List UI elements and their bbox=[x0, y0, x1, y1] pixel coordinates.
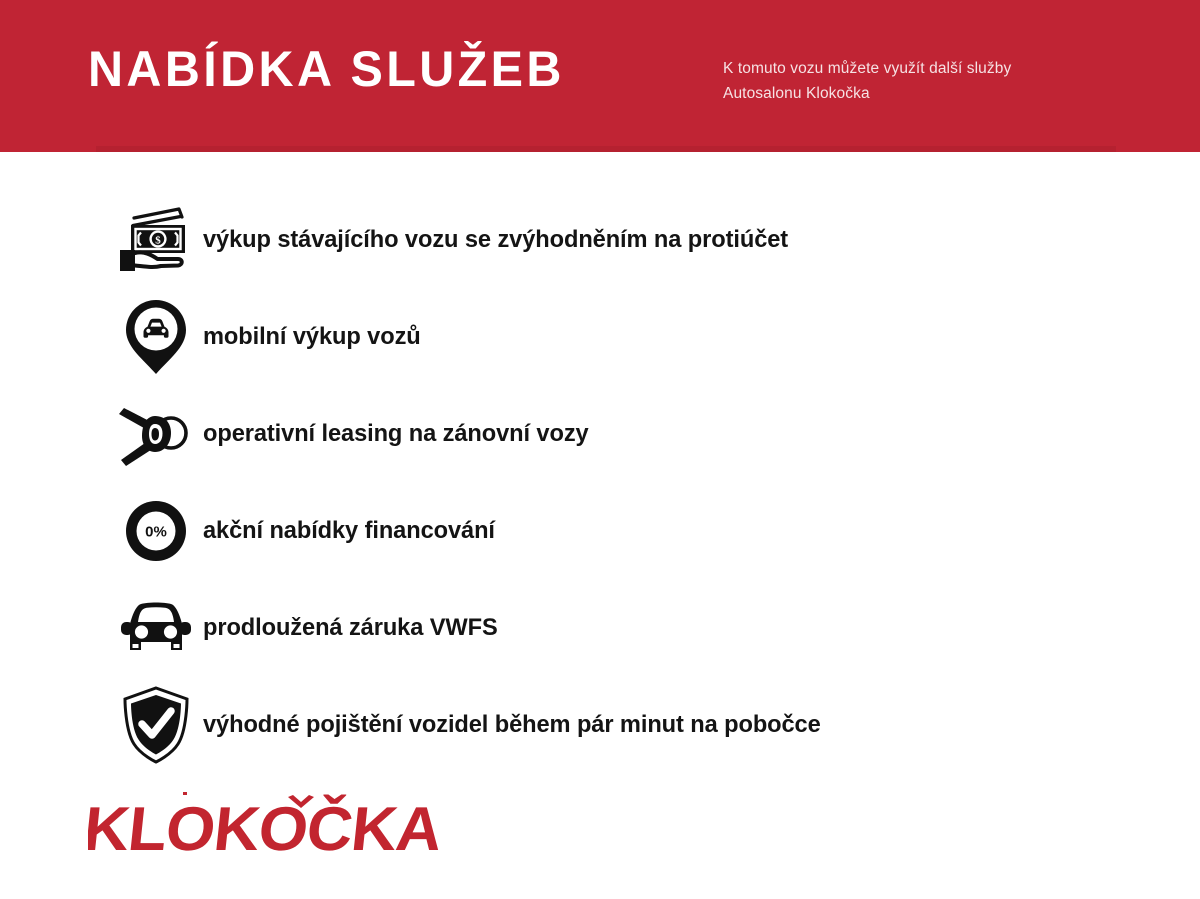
map-pin-car-icon bbox=[108, 289, 204, 385]
zero-percent-label: 0% bbox=[145, 524, 167, 541]
header-subtitle-line-2: Autosalonu Klokočka bbox=[723, 81, 1123, 106]
service-label: operativní leasing na zánovní vozy bbox=[203, 420, 589, 448]
logo-wordmark: KLOKOČKA bbox=[88, 794, 445, 860]
service-label: výkup stávajícího vozu se zvýhodněním na… bbox=[203, 226, 788, 254]
zero-percent-circle-icon: 0% bbox=[108, 483, 204, 579]
page-title: NABÍDKA SLUŽEB bbox=[88, 44, 565, 94]
hand-money-icon: $ bbox=[108, 192, 204, 288]
shield-check-icon bbox=[108, 677, 204, 773]
klokocka-logo: KLOKOČKA bbox=[88, 790, 488, 860]
service-item-mobile-buyback: mobilní výkup vozů bbox=[0, 289, 1200, 385]
service-label: výhodné pojištění vozidel během pár minu… bbox=[203, 711, 821, 739]
header-subtitle-line-1: K tomuto vozu můžete využít další služby bbox=[723, 56, 1123, 81]
service-item-buyback: $ výkup stávajícího vozu se zvýhodněním … bbox=[0, 192, 1200, 288]
car-front-icon bbox=[108, 580, 204, 676]
service-label: mobilní výkup vozů bbox=[203, 323, 421, 351]
service-item-extended-warranty: prodloužená záruka VWFS bbox=[0, 580, 1200, 676]
banknote-dollar-symbol: $ bbox=[155, 234, 161, 246]
service-item-financing: 0% akční nabídky financování bbox=[0, 483, 1200, 579]
service-item-insurance: výhodné pojištění vozidel během pár minu… bbox=[0, 677, 1200, 773]
header-subtitle: K tomuto vozu můžete využít další služby… bbox=[723, 56, 1123, 106]
service-label: akční nabídky financování bbox=[203, 517, 495, 545]
page-header: NABÍDKA SLUŽEB K tomuto vozu můžete využ… bbox=[0, 0, 1200, 152]
service-label: prodloužená záruka VWFS bbox=[203, 614, 498, 642]
car-keys-icon bbox=[108, 386, 204, 482]
service-item-operative-leasing: operativní leasing na zánovní vozy bbox=[0, 386, 1200, 482]
header-divider-rule bbox=[96, 146, 1116, 152]
